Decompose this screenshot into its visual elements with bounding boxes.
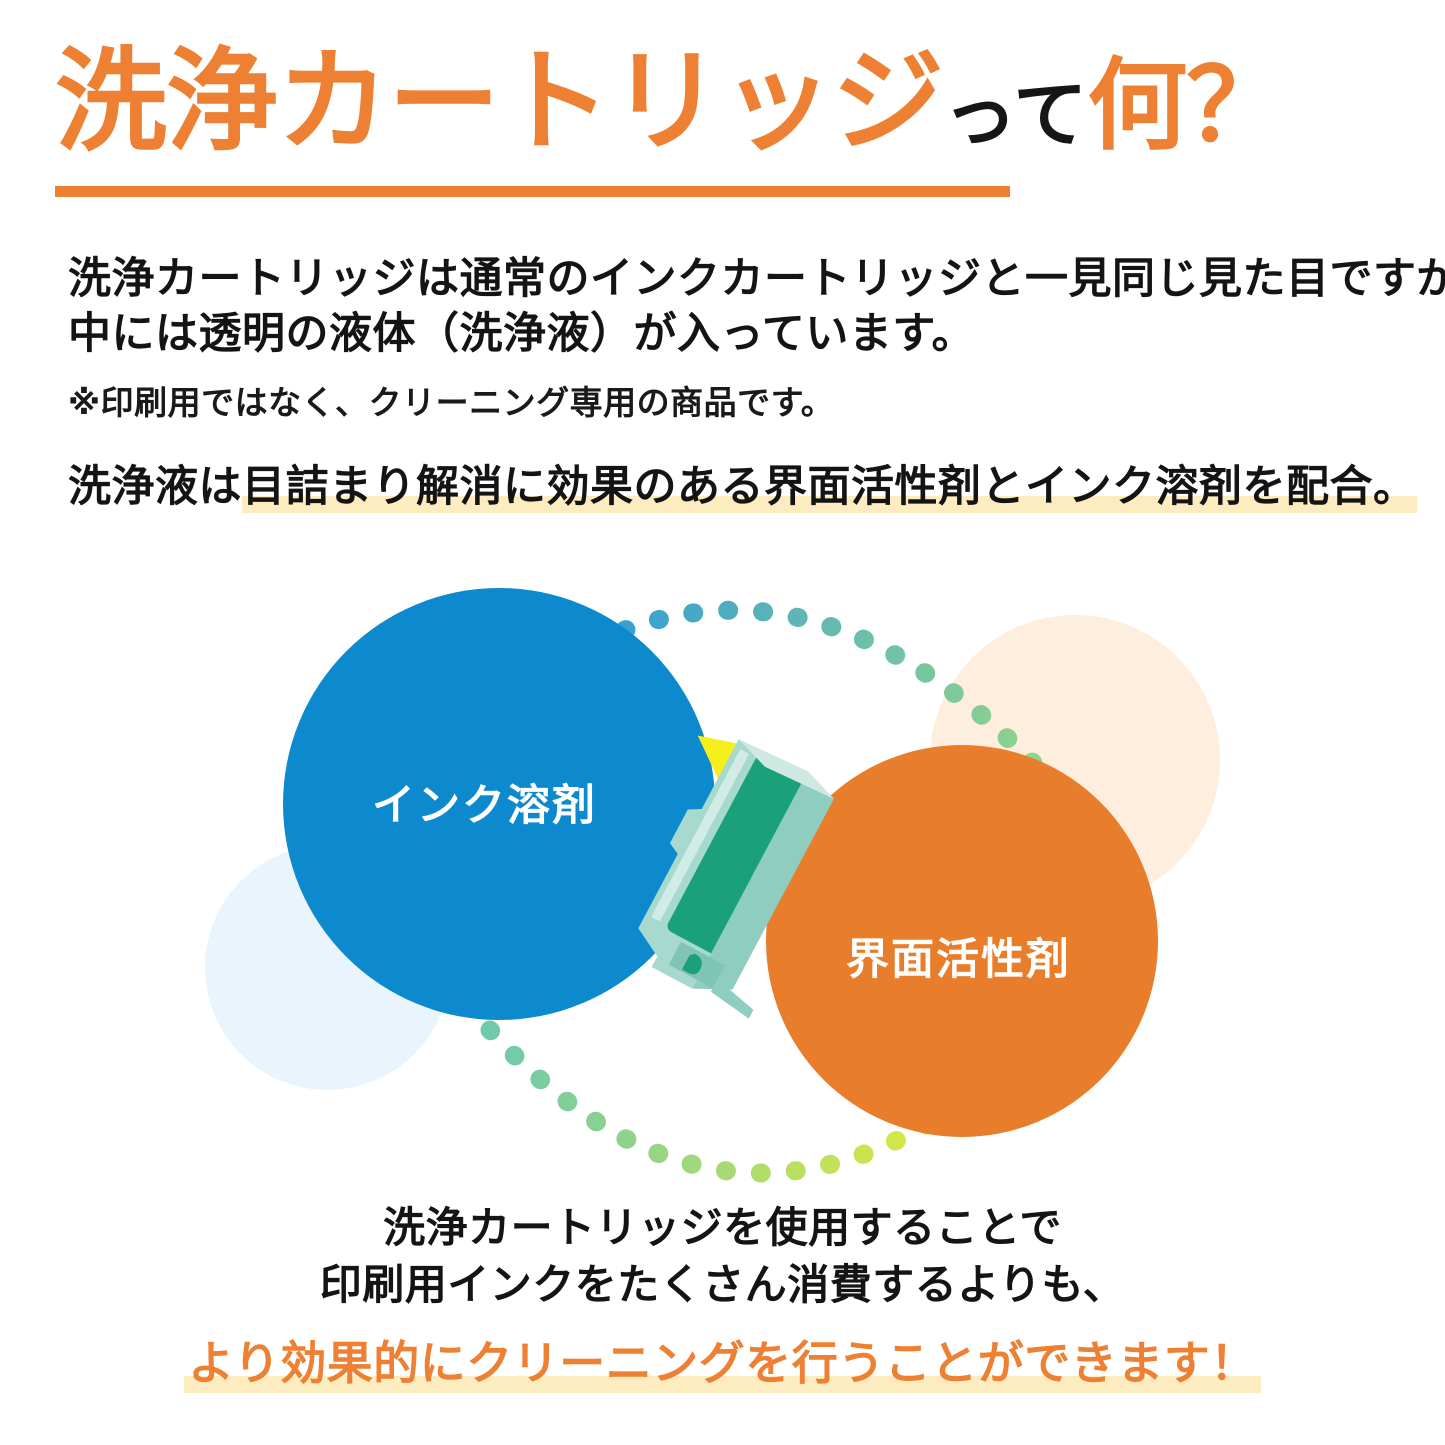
illustration: インク溶剤 界面活性剤	[0, 560, 1445, 1200]
conclusion-line-2: 印刷用インクをたくさん消費するよりも、	[0, 1257, 1445, 1314]
intro-note: ※印刷用ではなく、クリーニング専用の商品です。	[68, 386, 1398, 419]
highlight-marked-text: 目詰まり解消に効果のある界面活性剤とインク溶剤を配合。	[242, 463, 1417, 513]
conclusion-line-3: より効果的にクリーニングを行うことができます！	[0, 1327, 1445, 1393]
highlighted-statement: 洗浄液は目詰まり解消に効果のある界面活性剤とインク溶剤を配合。	[68, 452, 1417, 514]
conclusion-block: 洗浄カートリッジを使用することで 印刷用インクをたくさん消費するよりも、 より効…	[0, 1200, 1445, 1393]
title-part-product: 洗浄カートリッジ	[55, 39, 943, 164]
title-text: 洗浄カートリッジって何？	[55, 46, 1395, 158]
title-underline	[55, 186, 1010, 197]
blue-circle-label: インク溶剤	[372, 771, 597, 833]
page-title: 洗浄カートリッジって何？	[55, 46, 1395, 206]
infographic-page: 洗浄カートリッジって何？ 洗浄カートリッジは通常のインクカートリッジと一見同じ見…	[0, 0, 1445, 1445]
conclusion-highlight-text: より効果的にクリーニングを行うことができます！	[184, 1337, 1261, 1393]
conclusion-line-1: 洗浄カートリッジを使用することで	[0, 1200, 1445, 1257]
orange-circle-label: 界面活性剤	[846, 925, 1071, 987]
title-part-particle: って	[943, 73, 1087, 156]
intro-line-2: 中には透明の液体（洗浄液）が入っています。	[68, 307, 1398, 362]
intro-line-1: 洗浄カートリッジは通常のインクカートリッジと一見同じ見た目ですが、	[68, 252, 1398, 307]
intro-block: 洗浄カートリッジは通常のインクカートリッジと一見同じ見た目ですが、 中には透明の…	[68, 252, 1398, 419]
highlight-prefix: 洗浄液は	[68, 463, 242, 511]
title-part-question: 何？	[1087, 50, 1285, 162]
